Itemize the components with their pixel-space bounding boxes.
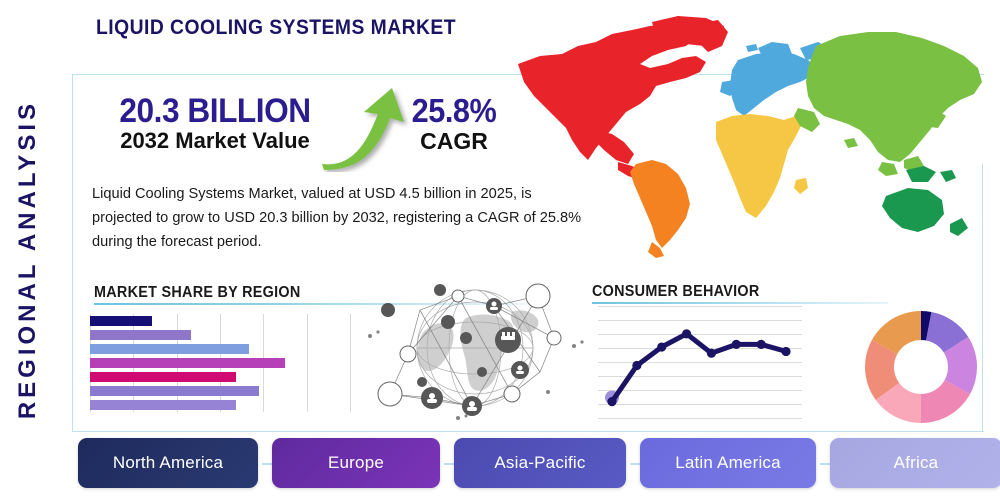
consumer-behavior-heading: CONSUMER BEHAVIOR [592,283,760,301]
line-data-point [657,342,666,351]
line-gridline [598,418,802,419]
region-tab-asia-pacific[interactable]: Asia-Pacific [454,438,626,488]
region-tab-latin-america[interactable]: Latin America [640,438,816,488]
side-label-text: REGIONAL ANALYSIS [14,100,42,419]
region-tab-label: Asia-Pacific [494,453,585,473]
region-tab-label: Africa [894,453,939,473]
region-tab-europe[interactable]: Europe [272,438,440,488]
global-network-globe-icon [362,276,588,424]
cagr-label: CAGR [388,128,520,154]
line-data-point [732,340,741,349]
cagr-kpi: 25.8% CAGR [388,92,520,154]
bar-chart-bar [90,400,236,410]
kpi-row: 20.3 BILLION 2032 Market Value 25.8% CAG… [100,92,520,168]
region-tab-north-america[interactable]: North America [78,438,258,488]
line-data-point [607,397,616,406]
bar-chart-bar [90,330,191,340]
cagr-number: 25.8% [393,92,516,130]
bar-gridline [350,314,351,412]
market-value-kpi: 20.3 BILLION 2032 Market Value [100,92,330,154]
line-chart-series [598,306,802,418]
line-data-point [707,349,716,358]
consumer-behavior-rule [592,302,888,304]
page-title: LIQUID COOLING SYSTEMS MARKET [96,16,456,40]
bar-chart-bar [90,344,249,354]
bar-chart-bar [90,372,236,382]
region-tab-label: Latin America [675,453,781,473]
infographic-canvas: REGIONAL ANALYSIS LIQUID COOLING SYSTEMS… [0,0,1000,500]
line-data-point [682,329,691,338]
regional-analysis-side-label: REGIONAL ANALYSIS [0,60,56,460]
line-data-point [632,361,641,370]
market-description: Liquid Cooling Systems Market, valued at… [92,182,592,254]
market-share-heading: MARKET SHARE BY REGION [94,284,300,302]
bar-chart-bar [90,316,152,326]
market-value-number: 20.3 BILLION [108,92,322,130]
region-tab-label: Europe [328,453,384,473]
bar-chart-bar [90,386,259,396]
market-share-bar-chart [90,314,350,412]
region-tabs: North AmericaEuropeAsia-PacificLatin Ame… [78,438,984,490]
bar-chart-bars [90,314,350,412]
region-tab-africa[interactable]: Africa [830,438,1000,488]
bar-chart-bar [90,358,285,368]
segment-donut-chart [862,308,980,426]
line-data-point [781,347,790,356]
consumer-behavior-line-chart [598,306,802,418]
region-tab-label: North America [113,453,223,473]
line-data-point [757,340,766,349]
market-value-label: 2032 Market Value [100,128,330,154]
